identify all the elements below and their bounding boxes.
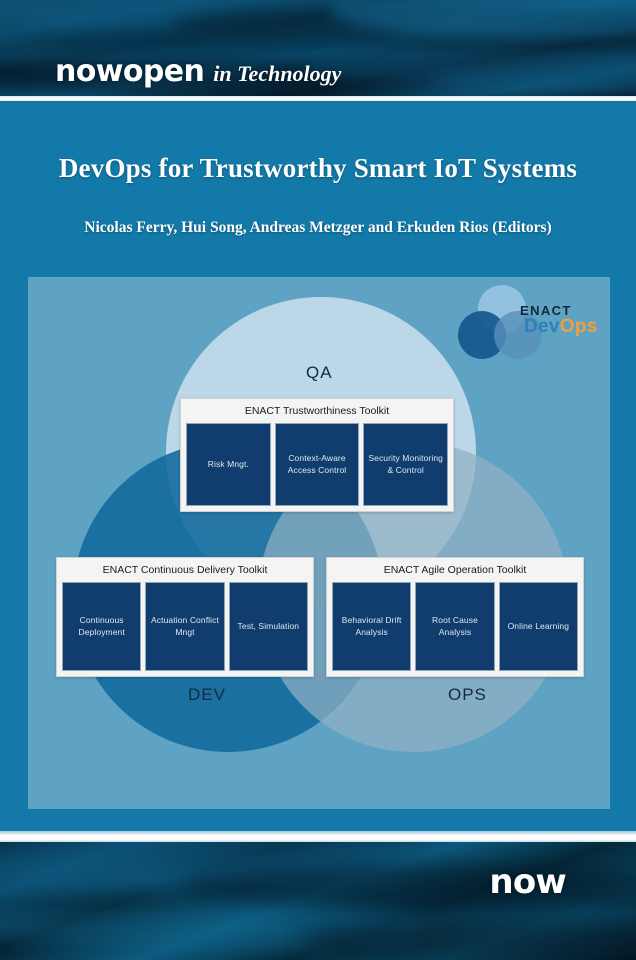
header-wave-texture	[80, 26, 380, 56]
toolkit-cell: Test, Simulation	[229, 582, 308, 671]
footer-band: now	[0, 842, 636, 960]
enact-logo-devops: DevOps	[524, 317, 598, 336]
header-band: nowopen in Technology	[0, 0, 636, 96]
publisher-logo-now: now	[489, 862, 566, 902]
toolkit-agile-operation: ENACT Agile Operation Toolkit Behavioral…	[326, 557, 584, 677]
toolkit-cell-row: Behavioral Drift Analysis Root Cause Ana…	[327, 582, 583, 676]
toolkit-cell-label: Actuation Conflict Mngt	[149, 615, 220, 638]
cover-body: DevOps for Trustworthy Smart IoT Systems…	[0, 101, 636, 833]
toolkit-cell-row: Risk Mngt. Context-Aware Access Control …	[181, 423, 453, 511]
publisher-logo-wordmark: nowopen	[55, 57, 204, 87]
publisher-series-label: in Technology	[213, 63, 341, 85]
toolkit-cell: Security Monitoring & Control	[363, 423, 448, 506]
enact-devops-logo: ENACT DevOps	[448, 285, 603, 365]
header-wave-texture	[0, 0, 360, 30]
toolkit-cell-label: Test, Simulation	[238, 621, 300, 632]
header-wave-texture	[170, 4, 636, 48]
venn-label-ops: OPS	[448, 685, 487, 705]
toolkit-cell: Actuation Conflict Mngt	[145, 582, 224, 671]
toolkit-cell-label: Root Cause Analysis	[419, 615, 490, 638]
toolkit-cell: Behavioral Drift Analysis	[332, 582, 411, 671]
toolkit-title: ENACT Continuous Delivery Toolkit	[57, 558, 313, 582]
toolkit-cell-label: Continuous Deployment	[66, 615, 137, 638]
toolkit-cell-label: Online Learning	[508, 621, 570, 632]
enact-logo-dev: Dev	[524, 316, 560, 337]
toolkit-cell-label: Risk Mngt.	[208, 459, 249, 470]
book-title: DevOps for Trustworthy Smart IoT Systems	[0, 153, 636, 184]
footer-wave-texture	[180, 864, 636, 914]
footer-wave-texture	[300, 918, 636, 960]
cover-diagram: QA DEV OPS ENACT DevOps ENACT Trustworth…	[28, 277, 610, 809]
footer-divider	[0, 831, 636, 842]
venn-label-dev: DEV	[188, 685, 226, 705]
header-wave-texture	[300, 48, 636, 84]
toolkit-title: ENACT Agile Operation Toolkit	[327, 558, 583, 582]
toolkit-cell-label: Behavioral Drift Analysis	[336, 615, 407, 638]
toolkit-cell: Risk Mngt.	[186, 423, 271, 506]
publisher-logo-nowopen: nowopen in Technology	[55, 57, 341, 87]
toolkit-cell: Context-Aware Access Control	[275, 423, 360, 506]
toolkit-cell-row: Continuous Deployment Actuation Conflict…	[57, 582, 313, 676]
toolkit-continuous-delivery: ENACT Continuous Delivery Toolkit Contin…	[56, 557, 314, 677]
toolkit-cell: Root Cause Analysis	[415, 582, 494, 671]
toolkit-cell: Continuous Deployment	[62, 582, 141, 671]
venn-label-qa: QA	[306, 363, 333, 383]
toolkit-cell-label: Security Monitoring & Control	[367, 453, 444, 476]
header-divider	[0, 96, 636, 101]
book-cover: nowopen in Technology DevOps for Trustwo…	[0, 0, 636, 960]
book-editors: Nicolas Ferry, Hui Song, Andreas Metzger…	[0, 219, 636, 237]
toolkit-cell: Online Learning	[499, 582, 578, 671]
title-block: DevOps for Trustworthy Smart IoT Systems…	[0, 153, 636, 237]
toolkit-cell-label: Context-Aware Access Control	[279, 453, 356, 476]
toolkit-title: ENACT Trustworthiness Toolkit	[181, 399, 453, 423]
enact-logo-ops: Ops	[560, 316, 598, 337]
toolkit-trustworthiness: ENACT Trustworthiness Toolkit Risk Mngt.…	[180, 398, 454, 512]
header-wave-texture	[330, 0, 636, 40]
footer-wave-texture	[0, 904, 430, 950]
footer-wave-texture	[0, 842, 430, 890]
